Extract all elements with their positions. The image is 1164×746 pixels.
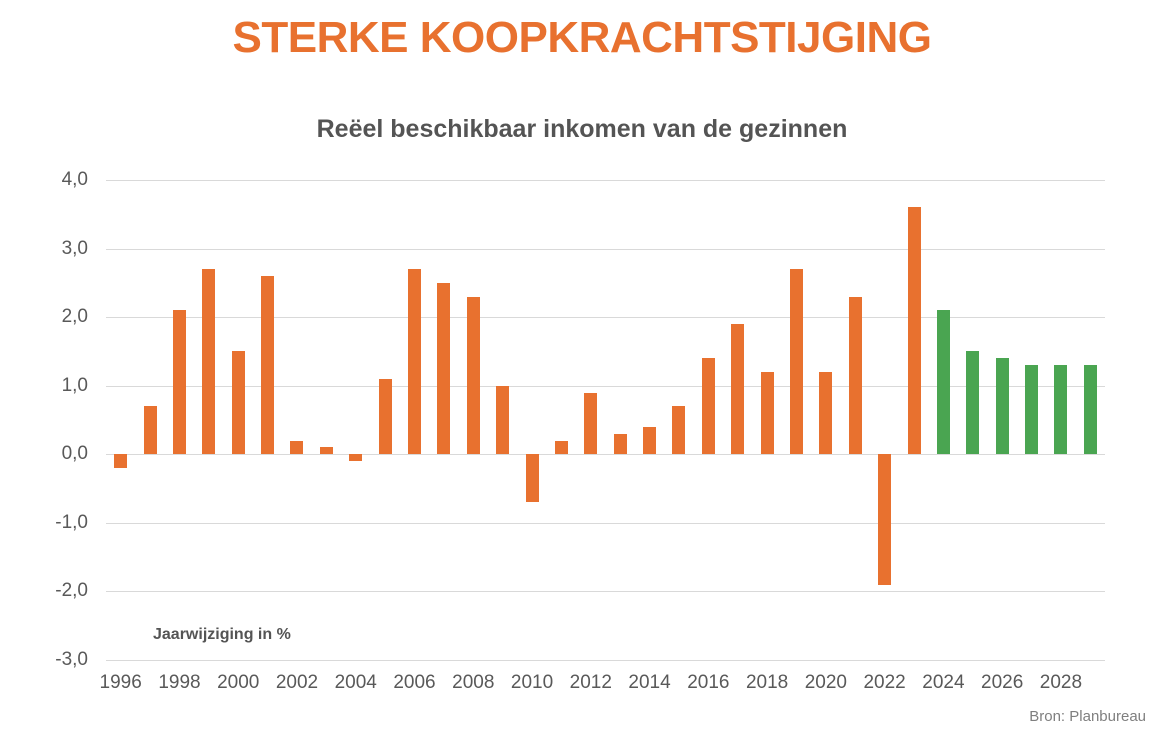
bar — [290, 441, 303, 455]
bar — [114, 454, 127, 468]
bar — [496, 386, 509, 455]
bar — [261, 276, 274, 454]
bar — [1084, 365, 1097, 454]
bar — [1025, 365, 1038, 454]
bar — [379, 379, 392, 454]
bar — [1054, 365, 1067, 454]
y-tick-label: 1,0 — [28, 375, 88, 397]
y-tick-label: 4,0 — [28, 169, 88, 191]
x-tick-label: 2012 — [570, 672, 612, 694]
chart-title: Reëel beschikbaar inkomen van de gezinne… — [0, 115, 1164, 144]
x-tick-label: 2002 — [276, 672, 318, 694]
x-tick-label: 2000 — [217, 672, 259, 694]
bar — [908, 207, 921, 454]
bar — [996, 358, 1009, 454]
x-tick-label: 2004 — [335, 672, 377, 694]
x-tick-label: 2028 — [1040, 672, 1082, 694]
y-tick-label: -1,0 — [28, 512, 88, 534]
bar — [555, 441, 568, 455]
bar — [437, 283, 450, 454]
x-tick-label: 2020 — [805, 672, 847, 694]
bar — [320, 447, 333, 454]
bar — [614, 434, 627, 455]
page-title: STERKE KOOPKRACHTSTIJGING — [0, 14, 1164, 62]
x-tick-label: 2026 — [981, 672, 1023, 694]
axis-unit-note: Jaarwijziging in % — [153, 626, 291, 644]
gridline — [106, 660, 1105, 661]
bar — [849, 297, 862, 455]
bar — [790, 269, 803, 454]
bar — [731, 324, 744, 454]
bar — [526, 454, 539, 502]
y-tick-label: 0,0 — [28, 443, 88, 465]
y-tick-label: -3,0 — [28, 649, 88, 671]
x-tick-label: 2014 — [628, 672, 670, 694]
bar — [761, 372, 774, 454]
bar — [878, 454, 891, 584]
bar — [672, 406, 685, 454]
x-tick-label: 2022 — [863, 672, 905, 694]
bar — [702, 358, 715, 454]
x-tick-label: 2018 — [746, 672, 788, 694]
x-tick-label: 2010 — [511, 672, 553, 694]
bar — [202, 269, 215, 454]
bar — [232, 351, 245, 454]
y-tick-label: 2,0 — [28, 306, 88, 328]
x-tick-label: 2008 — [452, 672, 494, 694]
source-note: Bron: Planbureau — [1029, 708, 1146, 725]
bar — [584, 393, 597, 455]
x-tick-label: 2006 — [393, 672, 435, 694]
bar — [144, 406, 157, 454]
bar — [819, 372, 832, 454]
bar — [643, 427, 656, 454]
x-tick-label: 1996 — [100, 672, 142, 694]
y-tick-label: 3,0 — [28, 238, 88, 260]
bar — [408, 269, 421, 454]
y-tick-label: -2,0 — [28, 580, 88, 602]
x-tick-label: 2024 — [922, 672, 964, 694]
x-tick-label: 1998 — [158, 672, 200, 694]
x-tick-label: 2016 — [687, 672, 729, 694]
bar — [173, 310, 186, 454]
plot-area — [106, 180, 1105, 660]
bar — [937, 310, 950, 454]
bar — [467, 297, 480, 455]
bar — [966, 351, 979, 454]
bar — [349, 454, 362, 461]
